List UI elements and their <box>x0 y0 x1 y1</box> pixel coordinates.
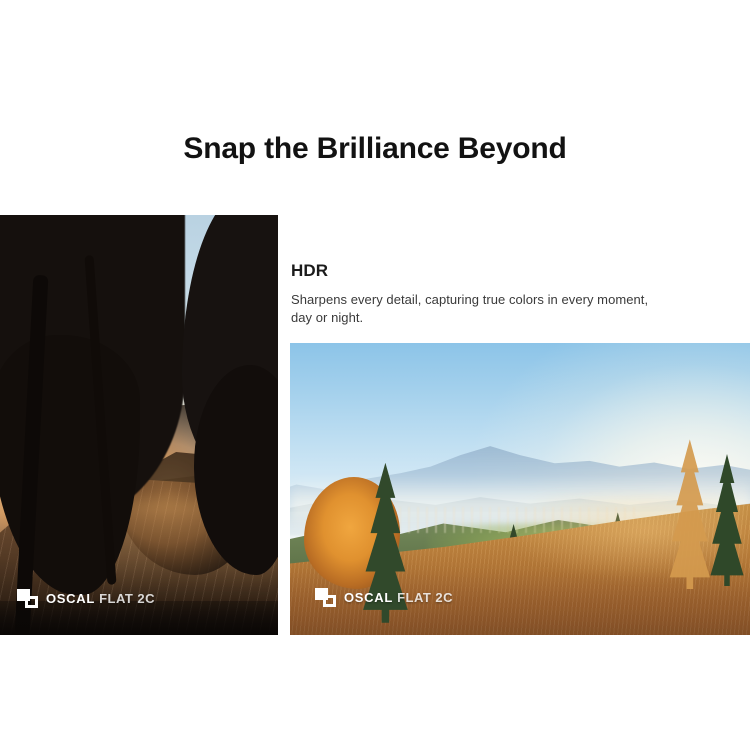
sunset-pavilion-photo: ⌁⌁⌁⌁⌁ OSCAL FLAT 2C <box>0 215 278 635</box>
feature-title-hdr: HDR <box>291 260 328 282</box>
watermark-left: OSCAL FLAT 2C <box>17 589 155 608</box>
watermark-model: FLAT 2C <box>397 590 453 605</box>
promo-page: Snap the Brilliance Beyond ⌁⌁⌁⌁⌁ <box>0 0 750 750</box>
oscal-offset-squares-logo-icon <box>315 588 336 607</box>
page-title: Snap the Brilliance Beyond <box>0 131 750 167</box>
watermark-right: OSCAL FLAT 2C <box>315 588 453 607</box>
watermark-text: OSCAL FLAT 2C <box>46 591 155 606</box>
watermark-model: FLAT 2C <box>99 591 155 606</box>
watermark-text: OSCAL FLAT 2C <box>344 590 453 605</box>
oscal-offset-squares-logo-icon <box>17 589 38 608</box>
watermark-brand: OSCAL <box>46 591 95 606</box>
autumn-valley-landscape-photo: OSCAL FLAT 2C <box>290 343 750 635</box>
watermark-brand: OSCAL <box>344 590 393 605</box>
feature-description: Sharpens every detail, capturing true co… <box>291 291 663 326</box>
